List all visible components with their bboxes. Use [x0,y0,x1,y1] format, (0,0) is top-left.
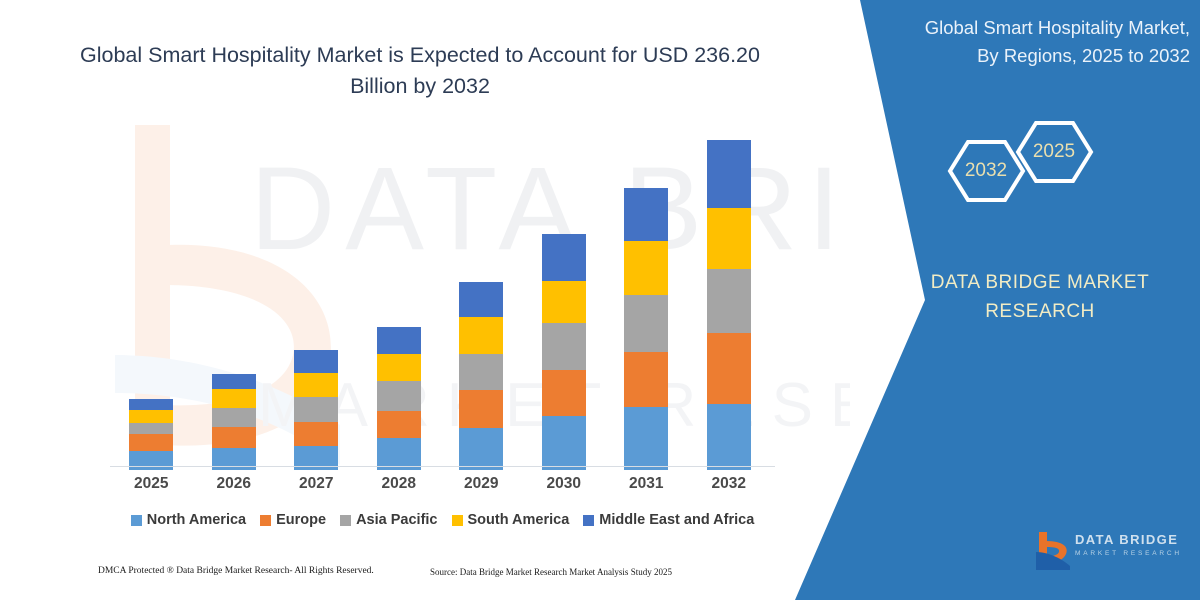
legend-label: South America [468,512,570,528]
bar-segment-north-america [129,451,173,470]
bar-segment-south-america [624,241,668,294]
bar-segment-europe [707,333,751,404]
legend-item-asia-pacific[interactable]: Asia Pacific [340,512,437,528]
legend-item-south-america[interactable]: South America [452,512,570,528]
x-axis-label-2028: 2028 [359,475,439,493]
x-axis-label-2027: 2027 [276,475,356,493]
legend-swatch-icon [260,515,271,526]
bar-segment-europe [377,411,421,438]
bar-2027 [294,350,338,470]
footer-source: Source: Data Bridge Market Research Mark… [430,567,672,577]
legend-label: North America [147,512,246,528]
bar-segment-north-america [459,428,503,470]
legend-label: Europe [276,512,326,528]
x-axis-label-2030: 2030 [524,475,604,493]
bar-segment-middle-east-and-africa [459,282,503,317]
hexagon-label-2025: 2025 [959,141,1149,163]
bar-segment-south-america [542,281,586,323]
bar-segment-north-america [542,416,586,470]
footer: DMCA Protected ® Data Bridge Market Rese… [0,566,850,588]
bar-segment-middle-east-and-africa [212,374,256,389]
legend-swatch-icon [452,515,463,526]
brand-name: DATA BRIDGE MARKET RESEARCH [890,268,1190,327]
bar-2030 [542,234,586,470]
brand-line2: RESEARCH [890,297,1190,326]
bar-segment-middle-east-and-africa [542,234,586,281]
bar-2028 [377,327,421,470]
bar-segment-south-america [707,208,751,268]
bar-segment-asia-pacific [377,381,421,411]
bar-2026 [212,374,256,470]
bar-segment-south-america [129,410,173,423]
bar-segment-europe [129,434,173,451]
panel-title-line1: Global Smart Hospitality Market, [860,14,1190,42]
x-axis-line [110,466,775,467]
legend-item-north-america[interactable]: North America [131,512,246,528]
bar-segment-middle-east-and-africa [707,140,751,208]
bar-segment-europe [624,352,668,407]
legend-swatch-icon [131,515,142,526]
bar-segment-north-america [707,404,751,471]
bar-segment-asia-pacific [542,323,586,370]
company-logo: DATA BRIDGE MARKET RESEARCH [1035,528,1185,572]
bar-segment-south-america [294,373,338,397]
bar-segment-south-america [212,389,256,408]
bar-2025 [129,399,173,470]
chart-title: Global Smart Hospitality Market is Expec… [75,40,765,102]
bar-segment-asia-pacific [624,295,668,352]
bar-segment-middle-east-and-africa [377,327,421,354]
bar-segment-asia-pacific [129,423,173,435]
logo-tagline: MARKET RESEARCH [1075,550,1182,557]
legend-label: Middle East and Africa [599,512,754,528]
x-axis-label-2029: 2029 [441,475,521,493]
bar-2032 [707,140,751,470]
bar-segment-middle-east-and-africa [294,350,338,373]
bar-segment-south-america [459,317,503,354]
legend-item-europe[interactable]: Europe [260,512,326,528]
bar-segment-europe [294,422,338,445]
bar-2029 [459,282,503,470]
brand-line1: DATA BRIDGE MARKET [890,268,1190,297]
bar-segment-south-america [377,354,421,381]
legend-swatch-icon [583,515,594,526]
chart-legend: North AmericaEuropeAsia PacificSouth Ame… [110,512,775,528]
bar-segment-asia-pacific [459,354,503,391]
bar-segment-europe [212,427,256,448]
bar-segment-europe [459,390,503,428]
bar-segment-middle-east-and-africa [129,399,173,409]
legend-item-middle-east-and-africa[interactable]: Middle East and Africa [583,512,754,528]
bar-2031 [624,188,668,470]
hexagon-group: 2032 2025 [930,108,1120,218]
x-axis-label-2025: 2025 [111,475,191,493]
bar-segment-asia-pacific [707,269,751,333]
hexagon-label-2032: 2032 [891,160,1081,182]
footer-copyright: DMCA Protected ® Data Bridge Market Rese… [98,566,374,576]
legend-swatch-icon [340,515,351,526]
bar-segment-europe [542,370,586,417]
chart-panel: DATA BRIDGE MARKET RESEARCH Global Smart… [0,0,850,600]
panel-title: Global Smart Hospitality Market, By Regi… [860,14,1200,70]
x-axis-labels: 20252026202720282029203020312032 [110,475,775,501]
x-axis-label-2026: 2026 [194,475,274,493]
bar-chart-plot [110,140,770,470]
bar-segment-asia-pacific [294,397,338,422]
bar-segment-middle-east-and-africa [624,188,668,241]
logo-text: DATA BRIDGE MARKET RESEARCH [1075,532,1182,557]
bar-segment-north-america [624,407,668,470]
x-axis-label-2032: 2032 [689,475,769,493]
logo-name: DATA BRIDGE [1075,532,1182,548]
bar-segment-asia-pacific [212,408,256,427]
panel-title-line2: By Regions, 2025 to 2032 [860,42,1190,70]
x-axis-label-2031: 2031 [606,475,686,493]
legend-label: Asia Pacific [356,512,437,528]
logo-bridge-icon [1035,530,1073,570]
